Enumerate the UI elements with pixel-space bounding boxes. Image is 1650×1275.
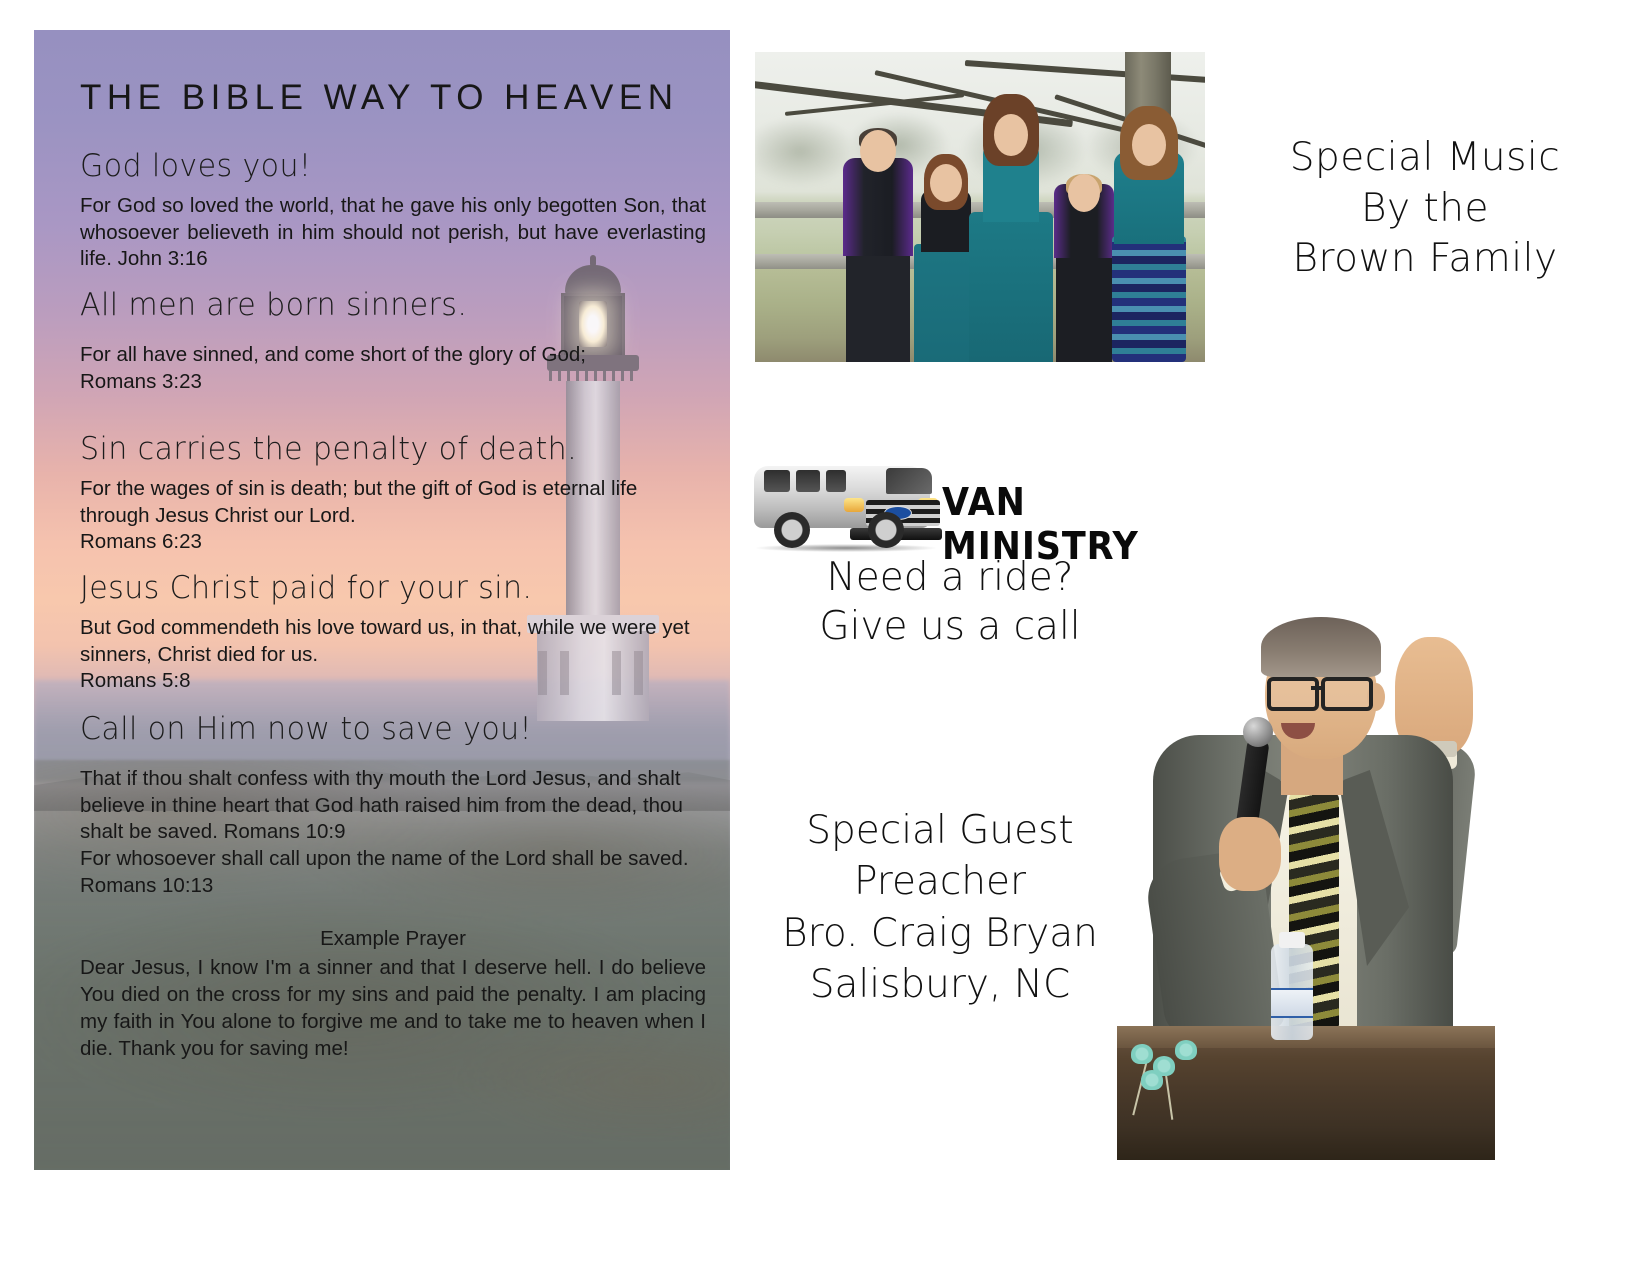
brown-family-photo [755, 52, 1205, 362]
preacher-glasses-bridge [1311, 686, 1323, 690]
teal-flower [1131, 1044, 1153, 1064]
van-window [826, 470, 846, 492]
van-photo [750, 444, 942, 554]
example-prayer-body: Dear Jesus, I know I'm a sinner and that… [80, 954, 706, 1062]
special-music-line-2: By the [1210, 184, 1640, 235]
preacher-line-1: Special Guest Preacher [740, 805, 1140, 908]
van-ministry-block: VAN MINISTRY [740, 436, 1210, 556]
example-prayer-title: Example Prayer [80, 927, 706, 951]
preacher-hand-holding-microphone [1219, 817, 1281, 891]
gospel-verse-5: That if thou shalt confess with thy mout… [80, 766, 706, 899]
gospel-verse-3: For the wages of sin is death; but the g… [80, 476, 706, 556]
special-music-line-1: Special Music [1210, 133, 1640, 184]
preacher-glasses-left-lens [1267, 677, 1319, 711]
gospel-heading-5: Call on Him now to save you! [80, 711, 687, 747]
gospel-verse-4: But God commendeth his love toward us, i… [80, 615, 706, 695]
gospel-content: THE BIBLE WAY TO HEAVEN God loves you! F… [80, 78, 706, 1062]
gospel-heading-3: Sin carries the penalty of death. [80, 431, 687, 467]
gospel-heading-2: All men are born sinners. [80, 287, 687, 323]
gospel-verse-1: For God so loved the world, that he gave… [80, 193, 706, 273]
guest-preacher-caption: Special Guest Preacher Bro. Craig Bryan … [740, 805, 1140, 1011]
microphone-head [1243, 717, 1273, 747]
family-member-son [1051, 148, 1117, 362]
family-member-father [841, 112, 915, 362]
van-headlight [844, 498, 864, 512]
gospel-heading-1: God loves you! [80, 148, 687, 184]
family-member-mother [1109, 110, 1189, 362]
teal-flower [1175, 1040, 1197, 1060]
van-window [796, 470, 820, 492]
gospel-panel: THE BIBLE WAY TO HEAVEN God loves you! F… [34, 30, 730, 1170]
wooden-pulpit [1117, 1030, 1495, 1160]
special-music-line-3: Brown Family [1210, 234, 1640, 285]
preacher-hair [1261, 617, 1381, 677]
preacher-line-3: Salisbury, NC [740, 959, 1140, 1010]
preacher-line-2: Bro. Craig Bryan [740, 908, 1140, 959]
right-column: Special Music By the Brown Family VAN MI… [740, 0, 1650, 1275]
page-title: THE BIBLE WAY TO HEAVEN [80, 78, 706, 118]
special-music-caption: Special Music By the Brown Family [1210, 133, 1640, 285]
van-wheel [868, 512, 904, 548]
water-bottle-cap [1279, 932, 1305, 948]
water-bottle-label [1271, 988, 1313, 1018]
gospel-verse-2: For all have sinned, and come short of t… [80, 342, 706, 395]
gospel-heading-4: Jesus Christ paid for your sin. [80, 570, 687, 606]
van-windshield [886, 468, 932, 494]
preacher-glasses-right-lens [1321, 677, 1373, 711]
van-window [764, 470, 790, 492]
family-member-older-daughter [969, 100, 1053, 362]
van-wheel [774, 512, 810, 548]
teal-flower [1141, 1070, 1163, 1090]
